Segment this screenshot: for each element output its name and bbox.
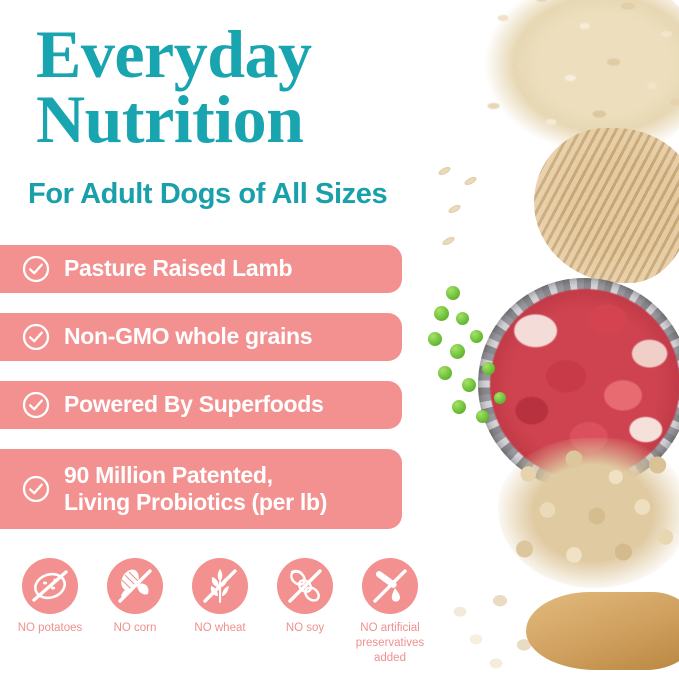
oat-flake <box>441 235 455 246</box>
no-wheat-icon <box>192 558 248 614</box>
green-pea <box>434 306 449 321</box>
page-title: Everyday Nutrition <box>36 22 436 151</box>
feature-label: Pasture Raised Lamb <box>64 255 302 282</box>
feature-label: 90 Million Patented, Living Probiotics (… <box>64 462 337 516</box>
oat-flake <box>463 175 477 186</box>
green-pea <box>456 312 469 325</box>
badge-label: NO wheat <box>180 621 260 636</box>
chickpeas-image <box>498 438 679 588</box>
green-pea <box>462 378 476 392</box>
ingredients-photo <box>398 0 679 679</box>
badge-no-wheat: NO wheat <box>180 558 260 636</box>
product-feature-panel: Everyday Nutrition For Adult Dogs of All… <box>0 0 679 679</box>
green-pea <box>450 344 465 359</box>
badge-label: NO potatoes <box>10 621 90 636</box>
badge-no-corn: NO corn <box>95 558 175 636</box>
green-pea <box>494 392 506 404</box>
check-circle-icon <box>22 323 50 351</box>
oat-flake <box>447 203 461 214</box>
green-pea <box>438 366 452 380</box>
page-subtitle: For Adult Dogs of All Sizes <box>28 178 387 211</box>
feature-row-superfoods: Powered By Superfoods <box>0 381 402 429</box>
feature-list: Pasture Raised Lamb Non-GMO whole grains… <box>0 245 402 549</box>
badge-no-soy: NO soy <box>265 558 345 636</box>
green-pea <box>428 332 442 346</box>
feature-label: Non-GMO whole grains <box>64 323 322 350</box>
no-soy-icon <box>277 558 333 614</box>
green-pea <box>446 286 460 300</box>
no-potato-icon <box>22 558 78 614</box>
feature-row-probiotics: 90 Million Patented, Living Probiotics (… <box>0 449 402 529</box>
feature-label: Powered By Superfoods <box>64 391 334 418</box>
brown-rice-image <box>534 128 679 283</box>
badge-no-potatoes: NO potatoes <box>10 558 90 636</box>
free-from-badge-list: NO potatoes NO cor <box>10 558 430 666</box>
green-pea <box>476 410 489 423</box>
wooden-scoop-image <box>526 592 679 670</box>
feature-row-lamb: Pasture Raised Lamb <box>0 245 402 293</box>
feature-row-non-gmo: Non-GMO whole grains <box>0 313 402 361</box>
badge-label: NO soy <box>265 621 345 636</box>
green-pea <box>470 330 483 343</box>
oat-flake <box>437 165 451 176</box>
check-circle-icon <box>22 255 50 283</box>
check-circle-icon <box>22 475 50 503</box>
green-pea <box>482 362 495 375</box>
green-pea <box>452 400 466 414</box>
no-corn-icon <box>107 558 163 614</box>
badge-label: NO corn <box>95 621 175 636</box>
check-circle-icon <box>22 391 50 419</box>
